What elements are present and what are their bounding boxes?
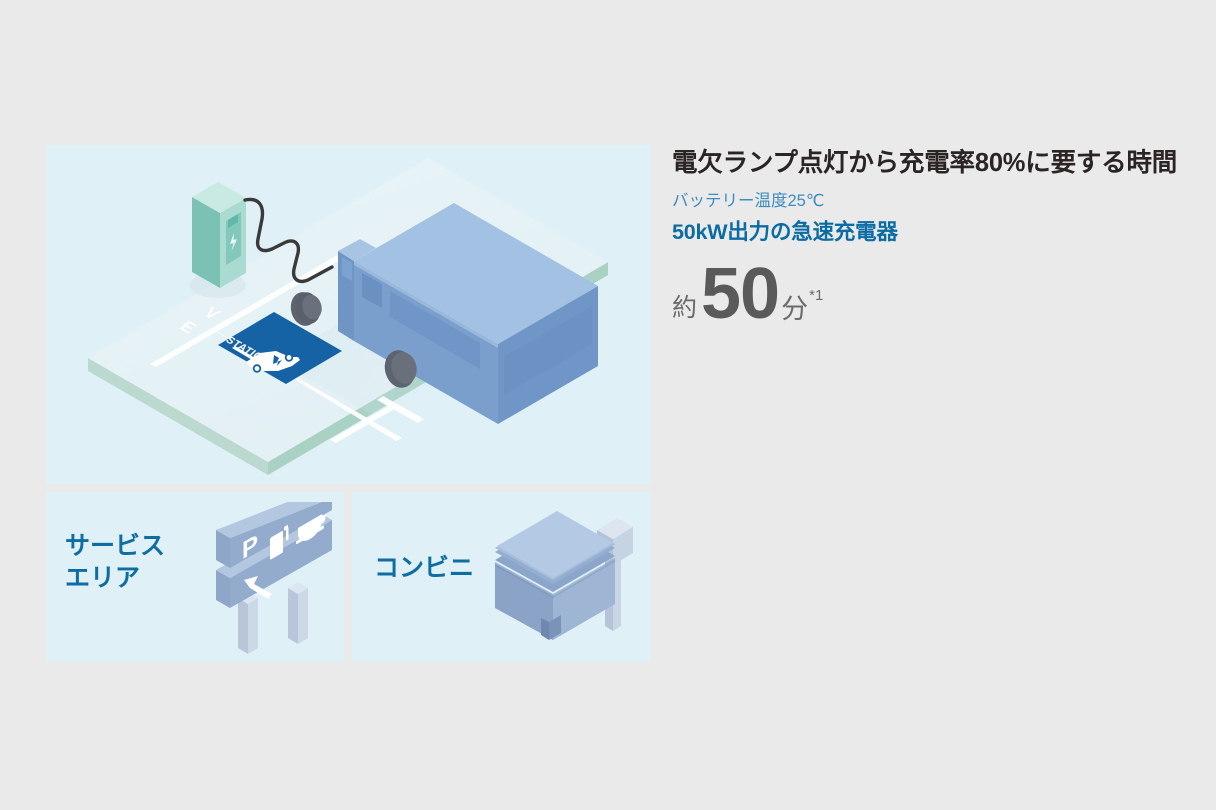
ev-charging-station-illustration: E V STATION [46, 145, 651, 484]
card-convenience-store[interactable]: コンビニ [352, 492, 651, 662]
highway-service-sign-icon: P [196, 502, 344, 657]
card-service-area[interactable]: サービス エリア [46, 492, 344, 662]
convenience-store-building-icon [487, 504, 647, 644]
figure-value: 50 [701, 260, 779, 328]
figure-unit: 分 [781, 287, 808, 326]
ev-charging-illustration-panel: E V STATION [46, 145, 651, 484]
figure-footnote-marker: *1 [809, 287, 823, 304]
charger-spec-label: 50kW出力の急速充電器 [672, 220, 1192, 246]
page-root: E V STATION サービス エリア [0, 0, 1216, 810]
charging-time-figure: 約 50 分 *1 [672, 260, 1192, 328]
page-title: 電欠ランプ点灯から充電率80%に要する時間 [672, 148, 1192, 179]
charging-post-icon [190, 182, 246, 298]
service-area-label: サービス エリア [65, 530, 165, 594]
info-column: 電欠ランプ点灯から充電率80%に要する時間 バッテリー温度25℃ 50kW出力の… [672, 148, 1192, 329]
battery-temperature-note: バッテリー温度25℃ [672, 192, 1192, 212]
figure-approx-prefix: 約 [672, 288, 697, 324]
convenience-store-label: コンビニ [374, 552, 474, 584]
